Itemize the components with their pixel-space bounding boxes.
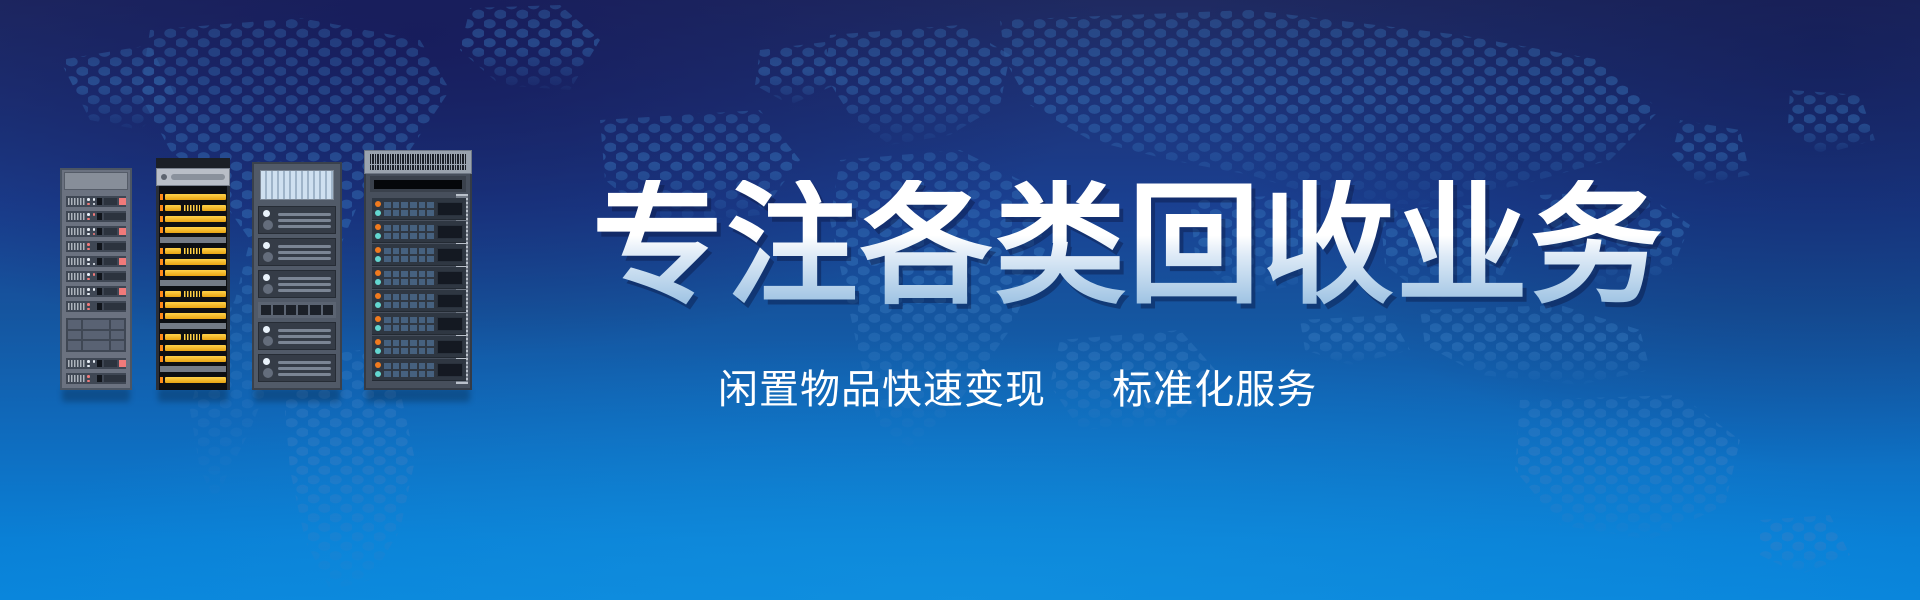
rack-drawers	[66, 318, 126, 352]
rack-top-bar	[156, 158, 230, 168]
server-rack-illustration	[52, 140, 512, 390]
server-rack-3	[252, 162, 342, 390]
server-rack-1	[60, 168, 132, 390]
subtitle-phrase-right: 标准化服务	[1112, 368, 1317, 412]
rack-vent-panel	[260, 170, 334, 200]
rack-shadow	[158, 388, 228, 402]
rack-top-panel	[64, 172, 128, 190]
rack-shadow	[254, 388, 340, 402]
subtitle-phrase-left: 闲置物品快速变现	[718, 368, 1046, 412]
rack-slot	[370, 176, 466, 192]
subtitle: 闲置物品快速变现 标准化服务	[718, 366, 1317, 414]
rack-top-panel	[156, 168, 230, 186]
rack-shadow	[366, 388, 470, 402]
rack-shadow	[62, 388, 130, 402]
rack-barcode-panel	[364, 150, 472, 174]
page-title: 专注各类回收业务	[592, 180, 1664, 312]
recycling-service-banner: 专注各类回收业务 专注各类回收业务 闲置物品快速变现 标准化服务	[0, 0, 1920, 600]
server-rack-2	[156, 158, 230, 390]
server-rack-4	[364, 150, 472, 390]
